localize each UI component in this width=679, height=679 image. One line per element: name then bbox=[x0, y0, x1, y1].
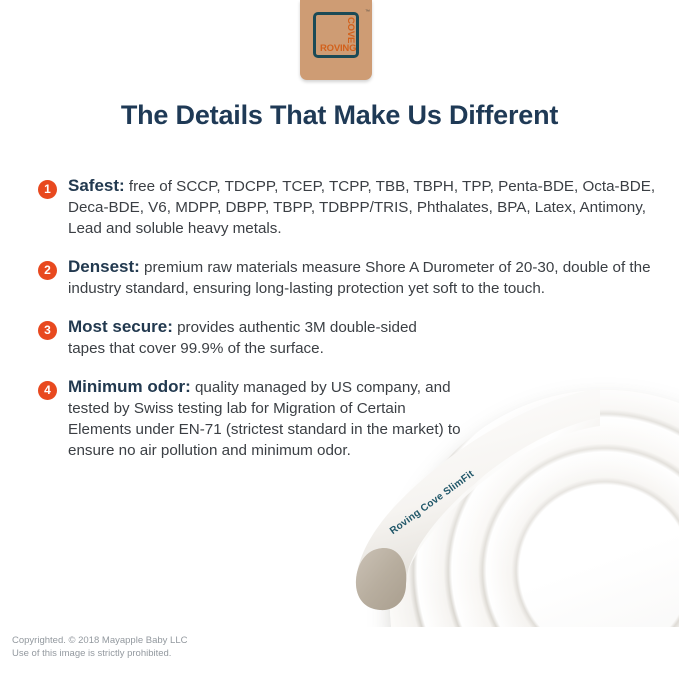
list-item-lead: Safest: bbox=[68, 176, 125, 195]
product-photo: Roving Cove SlimFit bbox=[330, 372, 679, 627]
list-item-text: premium raw materials measure Shore A Du… bbox=[68, 259, 651, 297]
trademark-symbol: ™ bbox=[365, 9, 370, 15]
list-item-lead: Minimum odor: bbox=[68, 377, 191, 396]
brand-logo: ROVING COVE ™ bbox=[300, 0, 372, 80]
list-item-lead: Densest: bbox=[68, 257, 140, 276]
foam-strip-svg bbox=[330, 378, 600, 618]
foam-strip-end: Roving Cove SlimFit bbox=[330, 378, 600, 608]
logo-text-roving: ROVING bbox=[320, 44, 356, 54]
list-item-lead: Most secure: bbox=[68, 317, 173, 336]
list-number-badge: 2 bbox=[38, 261, 57, 280]
list-item: 1 Safest: free of SCCP, TDCPP, TCEP, TCP… bbox=[38, 175, 658, 239]
list-number-badge: 3 bbox=[38, 321, 57, 340]
list-item-body: Densest: premium raw materials measure S… bbox=[68, 256, 658, 299]
list-number-badge: 4 bbox=[38, 381, 57, 400]
copyright-line-1: Copyrighted. © 2018 Mayapple Baby LLC bbox=[12, 634, 187, 647]
list-item-text: free of SCCP, TDCPP, TCEP, TCPP, TBB, TB… bbox=[68, 178, 655, 237]
list-number-badge: 1 bbox=[38, 180, 57, 199]
list-item-body: Safest: free of SCCP, TDCPP, TCEP, TCPP,… bbox=[68, 175, 658, 239]
list-item: 3 Most secure: provides authentic 3M dou… bbox=[38, 316, 658, 359]
list-item-body: Most secure: provides authentic 3M doubl… bbox=[68, 316, 443, 359]
logo-text-cove: COVE bbox=[346, 17, 356, 43]
list-item: 2 Densest: premium raw materials measure… bbox=[38, 256, 658, 299]
copyright-line-2: Use of this image is strictly prohibited… bbox=[12, 647, 187, 660]
logo-frame: ROVING COVE bbox=[313, 12, 359, 58]
copyright-footer: Copyrighted. © 2018 Mayapple Baby LLC Us… bbox=[12, 634, 187, 660]
page-title: The Details That Make Us Different bbox=[0, 100, 679, 131]
